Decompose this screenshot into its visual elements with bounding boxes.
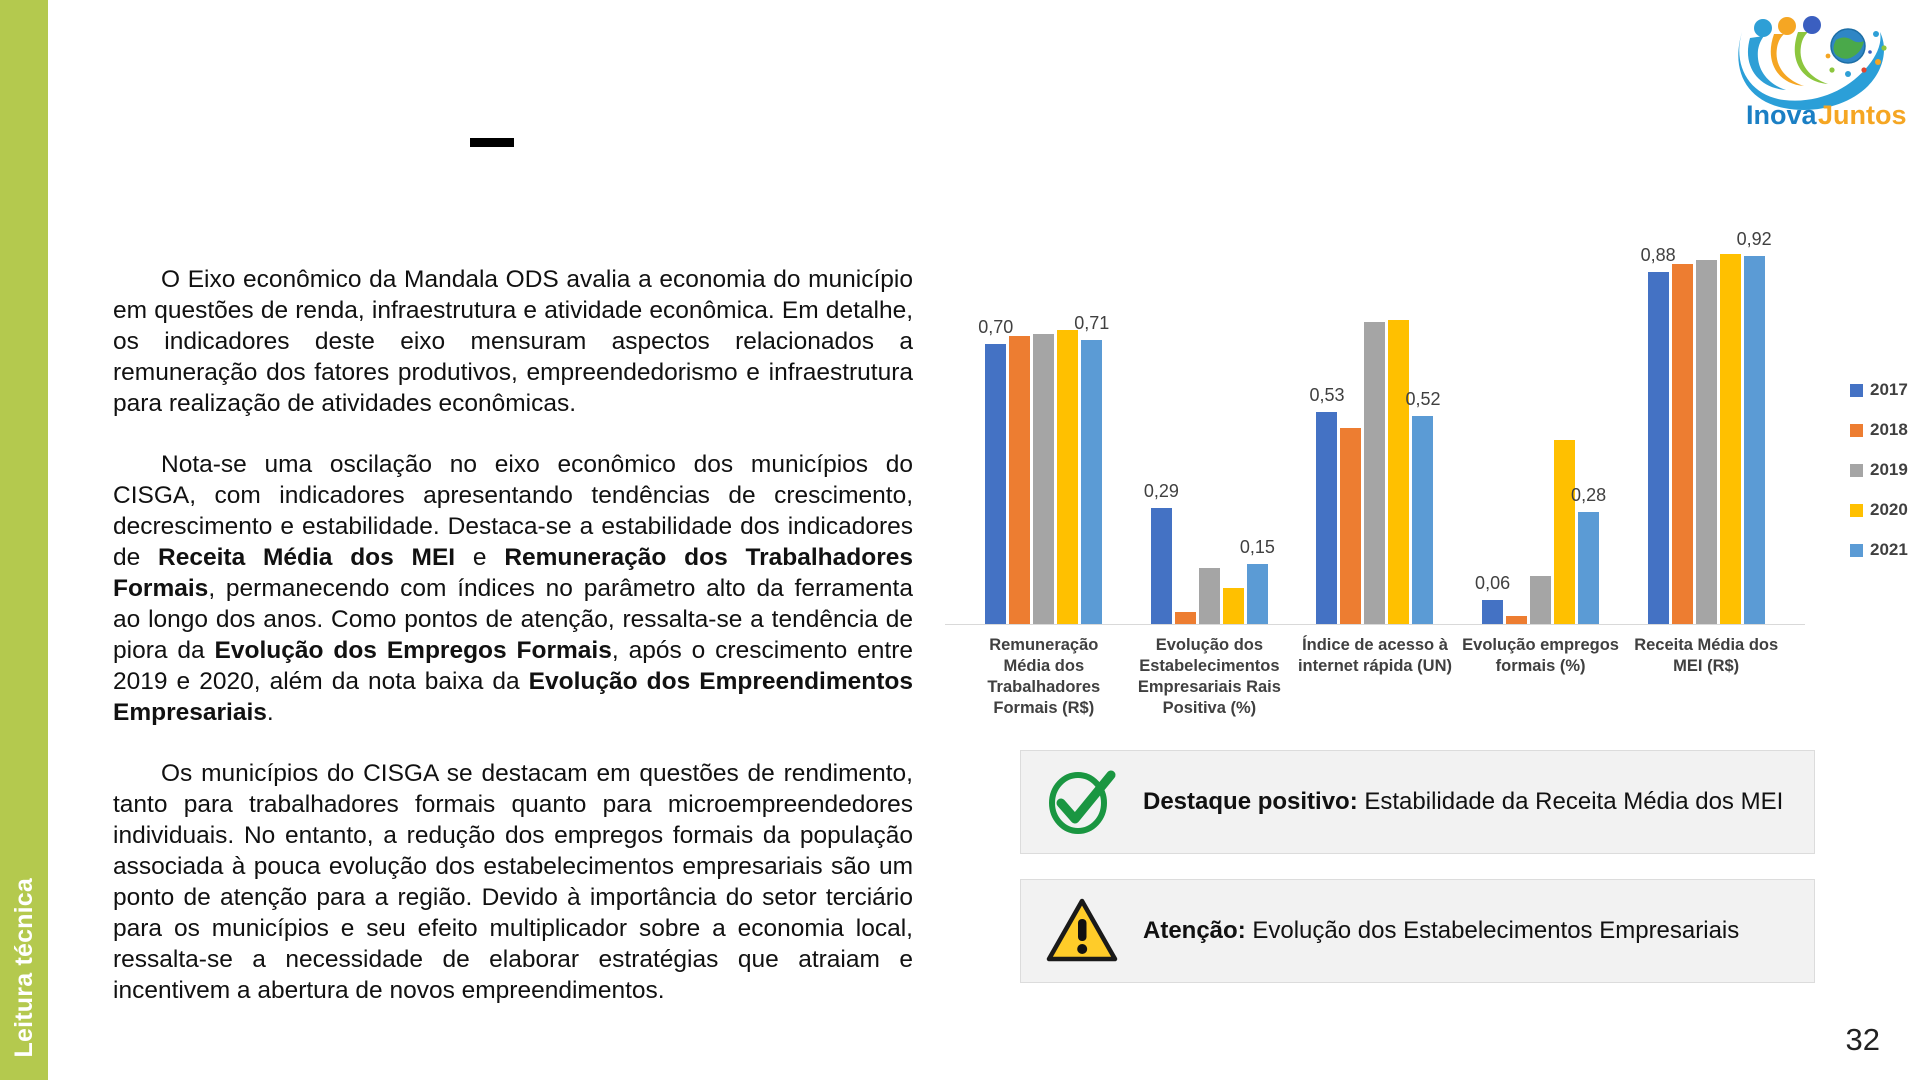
chart-bar-wrapper: 0,29 bbox=[1151, 195, 1172, 624]
svg-text:Juntos: Juntos bbox=[1818, 100, 1907, 130]
chart-bar bbox=[1199, 568, 1220, 624]
chart-bar-wrapper: 0,71 bbox=[1081, 195, 1102, 624]
chart-data-label: 0,71 bbox=[1074, 313, 1109, 334]
callout-label: Atenção: bbox=[1143, 917, 1246, 944]
chart-legend-item[interactable]: 2020 bbox=[1850, 500, 1920, 520]
chart-bar bbox=[1033, 334, 1054, 624]
chart-bar bbox=[1057, 330, 1078, 624]
chart-bar-group: 0,880,92 bbox=[1623, 195, 1789, 624]
warning-triangle-icon bbox=[1045, 896, 1119, 966]
chart-bar bbox=[1151, 508, 1172, 624]
chart-bar-wrapper bbox=[1364, 195, 1385, 624]
callout-label: Destaque positivo: bbox=[1143, 788, 1358, 815]
chart-bar-wrapper: 0,52 bbox=[1412, 195, 1433, 624]
left-sidebar-band: Leitura técnica bbox=[0, 0, 48, 1080]
chart-legend-item[interactable]: 2017 bbox=[1850, 380, 1920, 400]
chart-bar-group: 0,530,52 bbox=[1292, 195, 1458, 624]
body-paragraph: Nota-se uma oscilação no eixo econômico … bbox=[113, 450, 913, 729]
chart-bar-wrapper bbox=[1009, 195, 1030, 624]
chart-bar bbox=[1009, 336, 1030, 624]
body-text-column: O Eixo econômico da Mandala ODS avalia a… bbox=[113, 265, 913, 1007]
chart-bar-wrapper bbox=[1672, 195, 1693, 624]
callout-text: Atenção: Evolução dos Estabelecimentos E… bbox=[1143, 916, 1739, 947]
page-number: 32 bbox=[1846, 1022, 1880, 1058]
sidebar-label-text: Leitura técnica bbox=[10, 878, 39, 1057]
body-text-run: . bbox=[267, 699, 274, 726]
chart-bar bbox=[1506, 616, 1527, 624]
inovajuntos-logo: Inova Juntos bbox=[1728, 4, 1908, 134]
legend-label: 2020 bbox=[1870, 500, 1908, 520]
chart-bar bbox=[985, 344, 1006, 624]
legend-color-swatch bbox=[1850, 504, 1863, 517]
chart-category-label: Receita Média dos MEI (R$) bbox=[1623, 627, 1789, 719]
chart-bar-group: 0,290,15 bbox=[1127, 195, 1293, 624]
chart-bar bbox=[1720, 254, 1741, 624]
chart-bar bbox=[1696, 260, 1717, 624]
chart-category-label: Índice de acesso à internet rápida (UN) bbox=[1292, 627, 1458, 719]
chart-bar-wrapper bbox=[1033, 195, 1054, 624]
chart-data-label: 0,70 bbox=[978, 317, 1013, 338]
chart-category-label: Evolução empregos formais (%) bbox=[1458, 627, 1624, 719]
body-text-run: O Eixo econômico da Mandala ODS avalia a… bbox=[113, 266, 913, 417]
legend-color-swatch bbox=[1850, 544, 1863, 557]
title-dash bbox=[470, 138, 514, 147]
green-check-icon bbox=[1045, 767, 1119, 837]
chart-bar bbox=[1388, 320, 1409, 624]
body-text-run: Os municípios do CISGA se destacam em qu… bbox=[113, 760, 913, 1004]
chart-bar-wrapper: 0,92 bbox=[1744, 195, 1765, 624]
chart-bar-wrapper bbox=[1720, 195, 1741, 624]
svg-text:Inova: Inova bbox=[1746, 100, 1818, 130]
legend-label: 2019 bbox=[1870, 460, 1908, 480]
chart-data-label: 0,92 bbox=[1737, 229, 1772, 250]
chart-data-label: 0,06 bbox=[1475, 573, 1510, 594]
body-text-bold: Receita Média dos MEI bbox=[158, 544, 455, 571]
callout-body: Evolução dos Estabelecimentos Empresaria… bbox=[1246, 917, 1740, 944]
chart-bar-wrapper: 0,88 bbox=[1648, 195, 1669, 624]
chart-data-label: 0,28 bbox=[1571, 485, 1606, 506]
callout-box: Destaque positivo: Estabilidade da Recei… bbox=[1020, 750, 1815, 854]
chart-legend: 20172018201920202021 bbox=[1850, 380, 1920, 580]
chart-category-label: Remuneração Média dos Trabalhadores Form… bbox=[961, 627, 1127, 719]
chart-bar-wrapper bbox=[1696, 195, 1717, 624]
chart-bar-wrapper bbox=[1530, 195, 1551, 624]
callout-text: Destaque positivo: Estabilidade da Recei… bbox=[1143, 787, 1783, 818]
chart-bar-wrapper: 0,15 bbox=[1247, 195, 1268, 624]
chart-category-label: Evolução dos Estabelecimentos Empresaria… bbox=[1127, 627, 1293, 719]
chart-bar bbox=[1316, 412, 1337, 624]
callout-box: Atenção: Evolução dos Estabelecimentos E… bbox=[1020, 879, 1815, 983]
legend-label: 2018 bbox=[1870, 420, 1908, 440]
chart-bar bbox=[1364, 322, 1385, 624]
chart-bar-groups: 0,700,710,290,150,530,520,060,280,880,92 bbox=[945, 195, 1805, 624]
legend-color-swatch bbox=[1850, 384, 1863, 397]
chart-legend-item[interactable]: 2019 bbox=[1850, 460, 1920, 480]
chart-x-axis-line bbox=[945, 624, 1805, 625]
economy-bar-chart: 0,700,710,290,150,530,520,060,280,880,92… bbox=[945, 195, 1905, 715]
chart-bar bbox=[1412, 416, 1433, 624]
legend-label: 2021 bbox=[1870, 540, 1908, 560]
chart-bar bbox=[1530, 576, 1551, 624]
chart-bar bbox=[1648, 272, 1669, 624]
chart-plot-area: 0,700,710,290,150,530,520,060,280,880,92 bbox=[945, 195, 1805, 625]
chart-bar bbox=[1554, 440, 1575, 624]
chart-bar-wrapper bbox=[1175, 195, 1196, 624]
logo-graphic: Inova Juntos bbox=[1728, 4, 1908, 134]
chart-data-label: 0,88 bbox=[1641, 245, 1676, 266]
legend-color-swatch bbox=[1850, 424, 1863, 437]
chart-legend-item[interactable]: 2021 bbox=[1850, 540, 1920, 560]
chart-bar bbox=[1223, 588, 1244, 624]
callout-list: Destaque positivo: Estabilidade da Recei… bbox=[1020, 750, 1815, 983]
chart-bar bbox=[1672, 264, 1693, 624]
chart-bar-wrapper: 0,28 bbox=[1578, 195, 1599, 624]
chart-bar-wrapper bbox=[1223, 195, 1244, 624]
chart-bar-wrapper bbox=[1506, 195, 1527, 624]
legend-label: 2017 bbox=[1870, 380, 1908, 400]
chart-data-label: 0,53 bbox=[1309, 385, 1344, 406]
chart-bar bbox=[1247, 564, 1268, 624]
callout-body: Estabilidade da Receita Média dos MEI bbox=[1358, 788, 1784, 815]
chart-bar bbox=[1081, 340, 1102, 624]
chart-bar bbox=[1744, 256, 1765, 624]
chart-bar bbox=[1175, 612, 1196, 624]
chart-legend-item[interactable]: 2018 bbox=[1850, 420, 1920, 440]
chart-bar bbox=[1340, 428, 1361, 624]
chart-bar-wrapper bbox=[1057, 195, 1078, 624]
chart-data-label: 0,52 bbox=[1405, 389, 1440, 410]
chart-bar-wrapper bbox=[1340, 195, 1361, 624]
chart-bar-group: 0,060,28 bbox=[1458, 195, 1624, 624]
chart-category-labels: Remuneração Média dos Trabalhadores Form… bbox=[945, 627, 1805, 719]
chart-bar-wrapper bbox=[1199, 195, 1220, 624]
chart-bar-wrapper: 0,53 bbox=[1316, 195, 1337, 624]
body-text-run: e bbox=[455, 544, 504, 571]
body-text-bold: Evolução dos Empregos Formais bbox=[215, 637, 612, 664]
chart-bar-wrapper: 0,06 bbox=[1482, 195, 1503, 624]
chart-bar bbox=[1482, 600, 1503, 624]
body-paragraph: Os municípios do CISGA se destacam em qu… bbox=[113, 759, 913, 1007]
chart-bar-wrapper bbox=[1554, 195, 1575, 624]
chart-bar bbox=[1578, 512, 1599, 624]
sidebar-label: Leitura técnica bbox=[0, 878, 48, 1062]
warning-triangle-icon bbox=[1043, 894, 1121, 968]
chart-data-label: 0,29 bbox=[1144, 481, 1179, 502]
chart-data-label: 0,15 bbox=[1240, 537, 1275, 558]
legend-color-swatch bbox=[1850, 464, 1863, 477]
green-check-icon bbox=[1043, 765, 1121, 839]
chart-bar-wrapper: 0,70 bbox=[985, 195, 1006, 624]
chart-bar-group: 0,700,71 bbox=[961, 195, 1127, 624]
body-paragraph: O Eixo econômico da Mandala ODS avalia a… bbox=[113, 265, 913, 420]
